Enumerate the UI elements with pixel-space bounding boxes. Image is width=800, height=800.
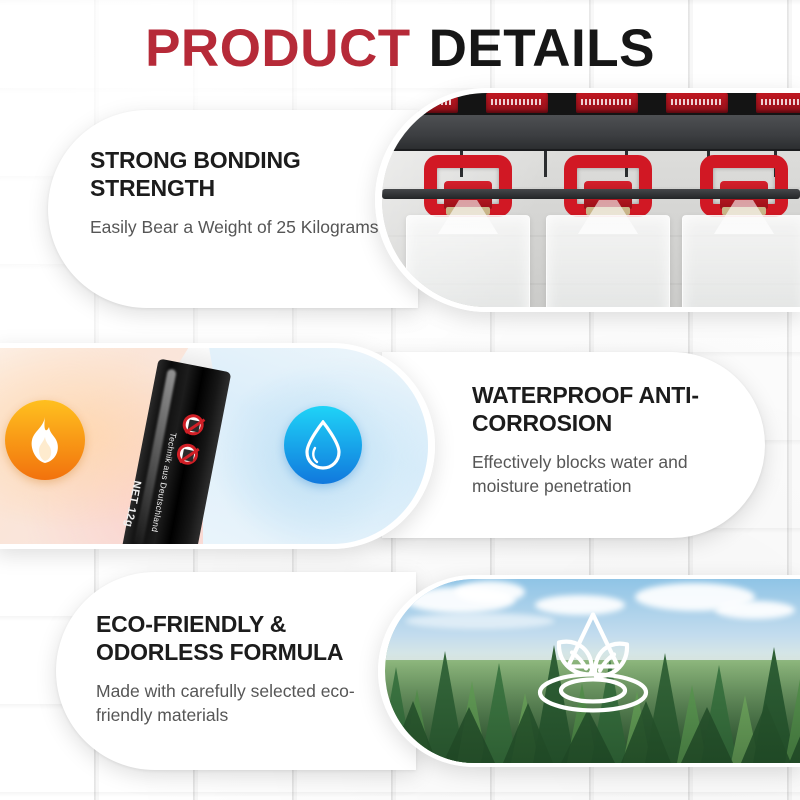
page-title-main: DETAILS bbox=[411, 19, 655, 78]
feature-subtext-2: Effectively blocks water and moisture pe… bbox=[472, 450, 757, 498]
feature-image-eco-friendly bbox=[378, 575, 800, 767]
feature-heading-3: ECO-FRIENDLY & ODORLESS FORMULA bbox=[96, 610, 396, 666]
eco-sprout-icon bbox=[518, 604, 668, 732]
page-title-accent: PRODUCT bbox=[145, 19, 411, 78]
feature-subtext-3: Made with carefully selected eco-friendl… bbox=[96, 679, 396, 727]
shelf-rack bbox=[382, 115, 800, 151]
water-drop-icon bbox=[284, 406, 362, 484]
feature-image-strong-bonding bbox=[375, 88, 800, 312]
page-title: PRODUCTDETAILS bbox=[0, 22, 800, 75]
feature-subtext-1: Easily Bear a Weight of 25 Kilograms bbox=[90, 215, 390, 239]
bottle-cap-strip bbox=[382, 93, 800, 115]
front-rail-bar bbox=[382, 189, 800, 199]
feature-card-eco-friendly: ECO-FRIENDLY & ODORLESS FORMULA Made wit… bbox=[56, 572, 416, 770]
feature-heading-1: STRONG BONDING STRENGTH bbox=[90, 146, 390, 202]
feature-heading-2: WATERPROOF ANTI-CORROSION bbox=[472, 381, 757, 437]
feature-card-strong-bonding: STRONG BONDING STRENGTH Easily Bear a We… bbox=[48, 110, 418, 308]
fire-icon bbox=[5, 400, 85, 480]
feature-card-waterproof: WATERPROOF ANTI-CORROSION Effectively bl… bbox=[382, 352, 765, 538]
feature-image-waterproof: Technik aus Deutschland NET 12g bbox=[0, 343, 435, 549]
